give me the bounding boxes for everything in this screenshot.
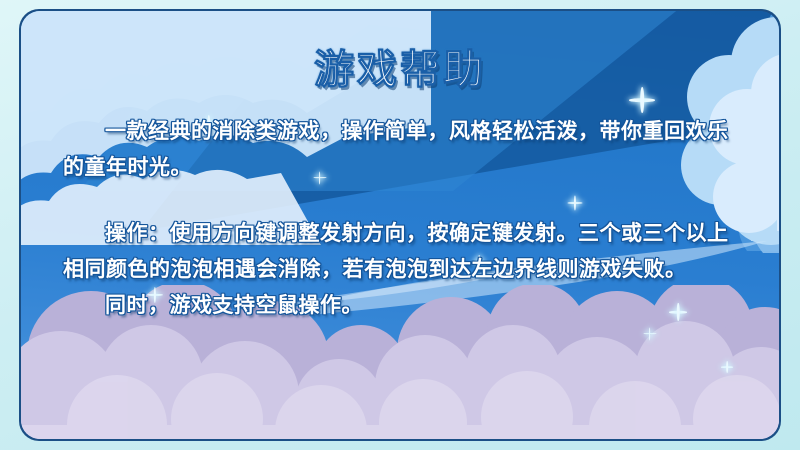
help-body: 一款经典的消除类游戏，操作简单，风格轻松活泼，带你重回欢乐的童年时光。 操作：使… xyxy=(63,113,743,323)
help-screen: 游戏帮助 一款经典的消除类游戏，操作简单，风格轻松活泼，带你重回欢乐的童年时光。… xyxy=(0,0,800,450)
help-paragraph-controls: 操作：使用方向键调整发射方向，按确定键发射。三个或三个以上相同颜色的泡泡相遇会消… xyxy=(63,215,743,287)
help-paragraph-intro: 一款经典的消除类游戏，操作简单，风格轻松活泼，带你重回欢乐的童年时光。 xyxy=(63,113,743,185)
page-title: 游戏帮助 xyxy=(21,37,779,95)
sky-panel: 游戏帮助 一款经典的消除类游戏，操作简单，风格轻松活泼，带你重回欢乐的童年时光。… xyxy=(21,11,779,439)
help-content: 游戏帮助 一款经典的消除类游戏，操作简单，风格轻松活泼，带你重回欢乐的童年时光。… xyxy=(21,11,779,439)
help-paragraph-airmouse: 同时，游戏支持空鼠操作。 xyxy=(63,287,743,323)
paragraph-spacer xyxy=(63,185,743,215)
